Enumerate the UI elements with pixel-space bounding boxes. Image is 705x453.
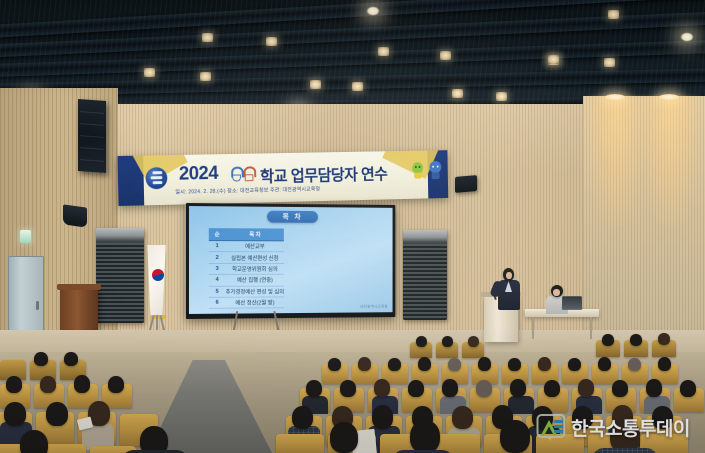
slide-row-no: 4	[209, 275, 226, 286]
audience-head	[306, 380, 322, 397]
ceiling-spotlight	[680, 32, 694, 42]
ceiling-downlight	[452, 89, 463, 98]
slide-row-no: 2	[209, 252, 226, 263]
daejeon-education-emblem	[145, 167, 167, 189]
ceiling-spotlight	[366, 6, 380, 16]
slide-col-item: 목 차	[226, 228, 285, 241]
slide-row-no: 1	[209, 241, 226, 252]
air-conditioner-left	[96, 228, 144, 323]
audience-head	[108, 376, 124, 393]
audience-head	[478, 357, 491, 371]
audience-shoulders	[592, 448, 658, 453]
audience-head	[500, 420, 530, 453]
audience-head	[374, 379, 390, 397]
slide-row-item: 학교운영위원회 심의	[226, 263, 285, 274]
wall-wash-light	[585, 96, 647, 226]
ceiling-downlight	[202, 33, 213, 42]
slide-footer-mark: 대전광역시교육청	[360, 305, 388, 310]
audience-head	[6, 376, 22, 393]
slide-row: 5 추가경정예산 편성 및 심의	[209, 286, 284, 298]
audience-head	[410, 420, 440, 453]
projection-screen: 목 차 순 목 차 1 예산교부 2 실립본 예산편성 신청	[186, 203, 395, 319]
audience-head	[388, 358, 401, 371]
hanguk-sotong-today-logo	[536, 412, 566, 442]
audience-head	[418, 357, 431, 371]
audience-head	[330, 422, 358, 453]
wall-speaker	[455, 175, 477, 193]
audience-head	[4, 402, 26, 426]
ceiling-downlight	[200, 72, 211, 81]
audience-head	[40, 376, 56, 393]
audience-head	[372, 405, 393, 429]
ac-louvers	[96, 243, 144, 323]
audience-head	[510, 379, 526, 397]
slide-title: 목 차	[267, 211, 318, 223]
audience-head	[568, 358, 581, 371]
audience-head	[578, 379, 594, 397]
audience-head	[20, 430, 48, 453]
ceiling-downlight	[144, 68, 155, 77]
wall-speaker	[63, 204, 87, 227]
slide-agenda-table: 순 목 차 1 예산교부 2 실립본 예산편성 신청 3 학교운	[209, 228, 284, 309]
slide-row: 1 예산교부	[209, 241, 284, 252]
audience-head	[680, 380, 696, 397]
door-handle[interactable]	[36, 301, 39, 310]
audience-head	[476, 380, 492, 397]
audience-head	[544, 380, 560, 397]
ceiling-downlight	[496, 92, 507, 101]
ceiling-downlight	[608, 10, 619, 19]
flag-gold-fringe	[144, 245, 173, 319]
slide-table-header-row: 순 목 차	[209, 228, 284, 241]
banner-year: 2024	[179, 163, 219, 186]
audience-head	[602, 334, 614, 346]
ceiling-downlight	[378, 47, 389, 56]
wall-light-source	[605, 94, 625, 100]
ceiling-downlight	[604, 58, 615, 67]
audience-head	[358, 357, 371, 371]
slide-row-no: 5	[209, 286, 226, 297]
audience-head	[328, 358, 341, 371]
audience-head	[64, 352, 78, 366]
audience-head	[598, 357, 611, 371]
laptop	[562, 296, 582, 310]
watermark: 한국소통투데이	[536, 412, 690, 442]
slide-row-item: 추가경정예산 편성 및 심의	[226, 286, 285, 298]
banner-subtitle: 일시: 2024. 2. 28.(수) 장소: 대전교육청보 주관: 대전광역시…	[175, 185, 320, 195]
slide-row-item: 실립본 예산편성 신청	[226, 252, 285, 263]
audience-head	[658, 333, 670, 345]
slide-row-item: 예산 집행 (연중)	[226, 274, 285, 285]
audience-head	[452, 406, 473, 429]
banner-mascot-glyph	[231, 164, 254, 184]
audience-head	[46, 402, 68, 426]
ceiling-downlight	[310, 80, 321, 89]
ceiling-downlight	[548, 55, 559, 64]
audience-head	[416, 336, 427, 347]
blue-mascot	[428, 159, 442, 180]
presenter	[496, 268, 522, 314]
air-conditioner-right	[403, 230, 447, 320]
audience-head	[292, 406, 313, 429]
seat	[276, 434, 324, 453]
audience-head	[612, 380, 628, 397]
audience-head	[442, 336, 453, 347]
ceiling-downlight	[352, 82, 363, 91]
slide-row: 3 학교운영위원회 심의	[209, 263, 284, 274]
audience-head	[658, 357, 671, 371]
slide-row-no: 3	[209, 263, 226, 274]
wall-wash-light	[639, 96, 701, 226]
ac-louvers	[403, 244, 447, 320]
auditorium-photo: 2024 학교 업무담당자 연수 일시: 2024. 2. 28.(수) 장소:…	[0, 0, 705, 453]
banner-title: 학교 업무담당자 연수	[260, 161, 388, 187]
audience-head	[646, 379, 662, 397]
audience-head	[630, 334, 642, 346]
audience-head	[628, 358, 641, 371]
audience-head	[538, 357, 551, 371]
line-array-speaker	[78, 99, 106, 173]
audience-head	[340, 380, 356, 397]
slide-row: 2 실립본 예산편성 신청	[209, 252, 284, 263]
audience-head	[74, 375, 90, 393]
audience-head	[508, 358, 521, 371]
watermark-text: 한국소통투데이	[571, 414, 690, 441]
slide-row: 4 예산 집행 (연중)	[209, 274, 284, 286]
right-wall	[583, 96, 705, 346]
slide-row-item: 예산 정산(2월 말)	[226, 297, 285, 309]
slide-row-no: 6	[209, 297, 226, 308]
slide-row: 6 예산 정산(2월 말)	[209, 297, 284, 309]
slide-row-item: 예산교부	[226, 241, 285, 252]
audience-head	[468, 336, 479, 347]
audience-head	[442, 379, 458, 397]
audience-head	[34, 352, 48, 366]
ceiling-downlight	[266, 37, 277, 46]
green-mascot	[411, 160, 424, 179]
audience-head	[448, 358, 461, 371]
slide-col-no: 순	[209, 228, 226, 241]
event-banner: 2024 학교 업무담당자 연수 일시: 2024. 2. 28.(수) 장소:…	[117, 150, 448, 206]
audience-head	[140, 426, 168, 453]
ceiling-downlight	[440, 51, 451, 60]
wall-light-source	[659, 94, 679, 100]
audience-head	[408, 380, 424, 397]
exit-light	[20, 230, 31, 243]
slide-surface: 목 차 순 목 차 1 예산교부 2 실립본 예산편성 신청	[189, 206, 393, 314]
